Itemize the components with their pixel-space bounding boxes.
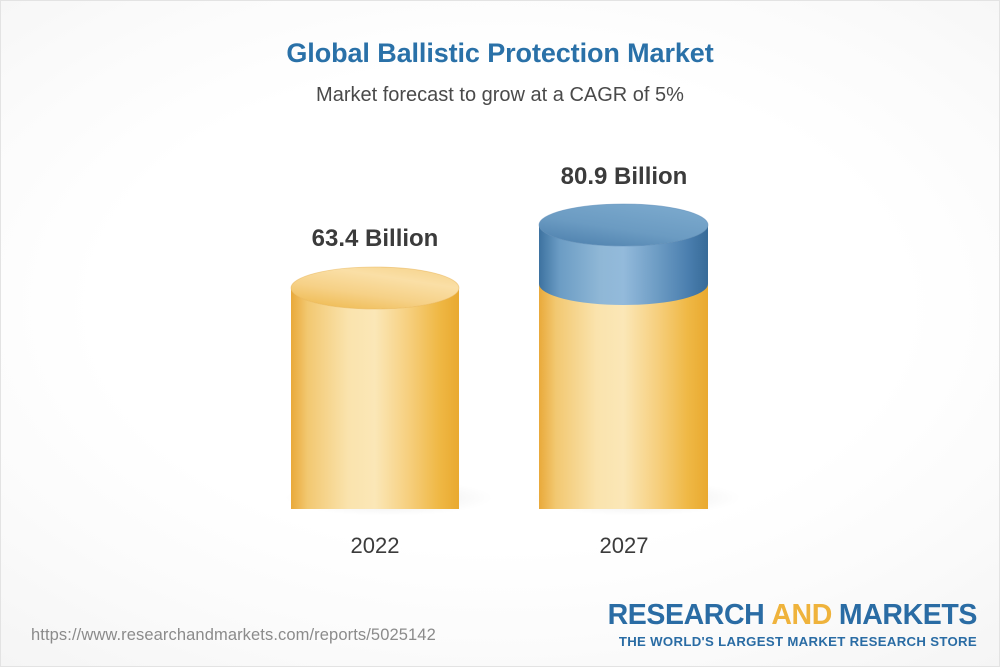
cylinder-2027-body-growth	[539, 225, 708, 305]
cylinder-2022-top-rim	[291, 267, 459, 309]
logo-wordmark: RESEARCHANDMARKETS	[608, 601, 977, 630]
cylinder-2027-top-cap	[539, 204, 708, 246]
data-label-2022: 63.4 Billion	[225, 225, 525, 253]
logo-tagline: THE WORLD'S LARGEST MARKET RESEARCH STOR…	[608, 635, 977, 648]
data-label-2027: 80.9 Billion	[474, 163, 774, 191]
logo-word-markets: MARKETS	[839, 599, 977, 631]
cylinder-2022	[285, 267, 493, 516]
research-and-markets-logo[interactable]: RESEARCHANDMARKETS THE WORLD'S LARGEST M…	[608, 601, 977, 648]
cylinder-2027-shadow	[533, 480, 741, 516]
logo-word-research: RESEARCH	[608, 599, 765, 631]
category-label-2027: 2027	[474, 533, 774, 559]
infographic-canvas: Global Ballistic Protection Market Marke…	[0, 0, 1000, 667]
cylinder-2022-shadow	[285, 480, 493, 516]
cylinder-2027-body-base	[539, 225, 708, 509]
report-url[interactable]: https://www.researchandmarkets.com/repor…	[31, 626, 436, 645]
chart-header: Global Ballistic Protection Market Marke…	[1, 37, 999, 107]
cylinder-2027-top-rim	[539, 204, 708, 246]
logo-word-and: AND	[771, 599, 832, 631]
cylinder-2022-body	[291, 288, 459, 509]
chart-subtitle: Market forecast to grow at a CAGR of 5%	[1, 83, 999, 107]
cylinder-2027	[533, 204, 741, 516]
cylinder-2022-top-cap	[291, 267, 459, 309]
chart-title: Global Ballistic Protection Market	[1, 37, 999, 69]
